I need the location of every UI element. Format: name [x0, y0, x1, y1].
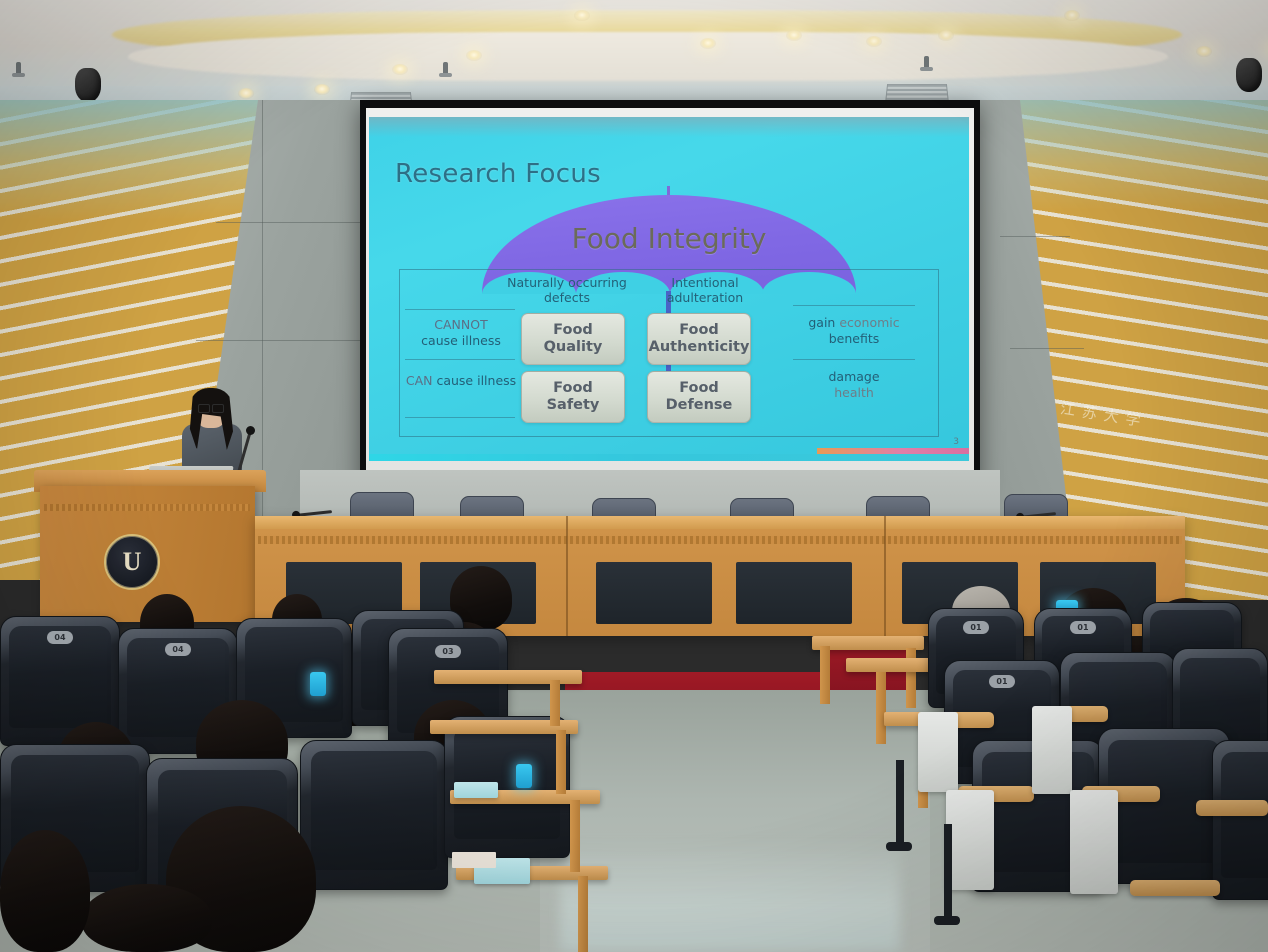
right-label-health: damage health — [789, 369, 919, 402]
desk-inset-panel — [596, 562, 712, 624]
concept-box-food-authenticity: Food Authenticity — [647, 313, 751, 365]
right-label-gain: gain — [808, 315, 839, 330]
column-header-left-line1: Naturally occurring — [507, 275, 627, 290]
ceiling-cove-soffit — [119, 32, 1178, 81]
pillar-seam — [1010, 348, 1084, 349]
concept-box-food-safety: Food Safety — [521, 371, 625, 423]
seat-side-shell — [1032, 706, 1072, 794]
right-label-economic-word: economic — [839, 315, 899, 330]
box-line2: Safety — [547, 397, 600, 413]
downlight-icon — [700, 38, 716, 49]
seat-leg — [944, 824, 952, 922]
column-header-left: Naturally occurring defects — [503, 275, 631, 306]
concept-box-food-defense: Food Defense — [647, 371, 751, 423]
seat-number-badge: 04 — [165, 643, 191, 656]
podium-trim — [44, 504, 250, 511]
seat-number-badge: 01 — [989, 675, 1015, 688]
emblem-ring — [106, 536, 158, 588]
left-label-can-strong: CAN — [406, 373, 433, 388]
desk-leg — [906, 648, 916, 708]
wall-right-light-tint — [1000, 100, 1268, 210]
audience-head-foreground — [82, 884, 212, 952]
front-desk-seam — [566, 516, 568, 636]
sprinkler-icon — [16, 62, 21, 76]
seat-number-badge: 01 — [963, 621, 989, 634]
downlight-icon — [1196, 46, 1212, 57]
left-label-can-rest: cause illness — [436, 373, 516, 388]
sprinkler-icon — [924, 56, 929, 70]
seat-side-shell — [946, 790, 994, 890]
ceiling-speaker-icon — [1236, 58, 1262, 92]
pillar-seam — [196, 340, 372, 341]
slide-title: Research Focus — [395, 159, 601, 189]
desk-leg — [556, 730, 566, 794]
rule-right-mid — [793, 359, 915, 360]
desk-leg — [876, 672, 886, 744]
seat-foot — [934, 916, 960, 925]
seat-number-badge: 03 — [435, 645, 461, 658]
sprinkler-icon — [443, 62, 448, 76]
downlight-icon — [1064, 10, 1080, 21]
slide-top-sheen — [369, 117, 969, 137]
pillar-seam — [216, 222, 372, 223]
box-line2: Defense — [666, 397, 733, 413]
box-line2: Authenticity — [649, 339, 750, 355]
auditorium-seat[interactable] — [1212, 740, 1268, 900]
eyeglasses-icon — [198, 404, 224, 411]
left-label-can: CAN cause illness — [403, 373, 519, 389]
desk-leg — [578, 876, 588, 952]
column-header-left-line2: defects — [544, 290, 590, 305]
column-header-right: Intentional adulteration — [641, 275, 769, 306]
right-label-health-word: health — [834, 385, 874, 400]
box-line1: Food — [553, 380, 593, 396]
paper-sheet — [452, 852, 496, 868]
seat-side-shell — [918, 712, 958, 792]
downlight-icon — [574, 10, 590, 21]
pillar-seam — [1000, 236, 1070, 237]
smartphone-screen — [516, 764, 532, 788]
ceiling-speaker-icon — [75, 68, 101, 102]
left-label-cannot-rest: cause illness — [421, 333, 501, 348]
box-line1: Food — [553, 322, 593, 338]
notebook — [454, 782, 498, 798]
column-header-right-line1: Intentional — [671, 275, 738, 290]
right-label-damage: damage — [828, 369, 879, 384]
slide-number: 3 — [953, 437, 959, 447]
smartphone-screen — [310, 672, 326, 696]
auditorium-seat[interactable] — [300, 740, 448, 890]
audience-head-foreground — [0, 830, 90, 952]
slide-bottom-glow — [369, 454, 969, 461]
rule-left-top — [405, 309, 515, 310]
concept-box-food-quality: Food Quality — [521, 313, 625, 365]
seat-armrest — [1130, 880, 1220, 896]
box-line2: Quality — [544, 339, 603, 355]
downlight-icon — [238, 88, 254, 99]
seat-number-badge: 01 — [1070, 621, 1096, 634]
microphone-icon — [246, 426, 255, 435]
front-desk-seam — [884, 516, 886, 636]
seat-number-badge: 04 — [47, 631, 73, 644]
downlight-icon — [314, 84, 330, 95]
downlight-icon — [786, 30, 802, 41]
seat-armrest — [1196, 800, 1268, 816]
rule-left-bottom — [405, 417, 515, 418]
box-line1: Food — [679, 380, 719, 396]
floor-reflection — [560, 840, 900, 952]
right-label-economic: gain economic benefits — [789, 315, 919, 348]
seat-side-shell — [1070, 790, 1118, 894]
seat-foot — [886, 842, 912, 851]
university-emblem: U — [104, 534, 160, 590]
rule-right-top — [793, 305, 915, 306]
left-label-cannot-strong: CANNOT — [434, 317, 487, 332]
box-line1: Food — [679, 322, 719, 338]
downlight-icon — [866, 36, 882, 47]
right-label-benefits: benefits — [829, 331, 880, 346]
front-desk-trim — [258, 536, 1182, 544]
front-desk-lip — [255, 516, 1185, 529]
downlight-icon — [938, 30, 954, 41]
downlight-icon — [466, 50, 482, 61]
desk-leg — [570, 800, 580, 872]
lecture-hall-photo: 江苏大学 Research Focus Food Integrity Natur… — [0, 0, 1268, 952]
presentation-slide: Research Focus Food Integrity Naturally … — [369, 117, 969, 461]
desk-inset-panel — [736, 562, 852, 624]
left-label-cannot: CANNOT cause illness — [403, 317, 519, 350]
column-header-right-line2: adulteration — [667, 290, 743, 305]
downlight-icon — [392, 64, 408, 75]
desk-leg — [550, 680, 560, 726]
pillar-seam — [262, 100, 263, 530]
desk-leg — [820, 646, 830, 704]
umbrella-label: Food Integrity — [482, 222, 856, 255]
seat-leg — [896, 760, 904, 846]
rule-left-mid — [405, 359, 515, 360]
